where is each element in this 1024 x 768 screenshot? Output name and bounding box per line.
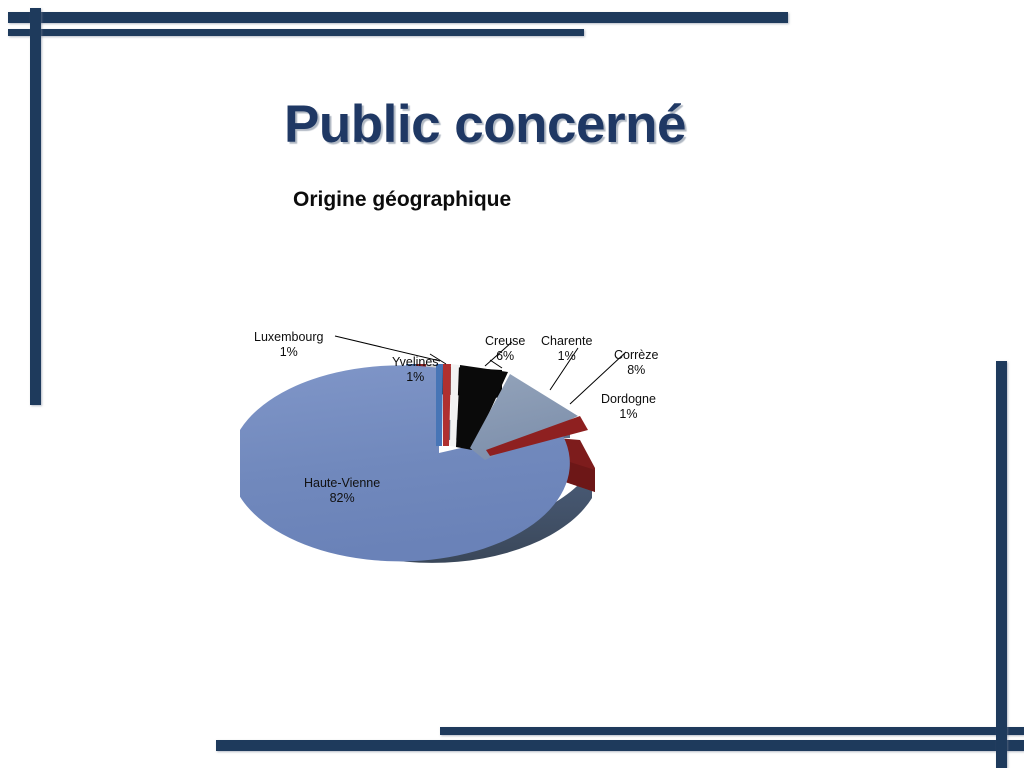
page-title-text: Public concerné <box>284 94 686 155</box>
pie-label-creuse: Creuse 6% <box>485 334 525 364</box>
pie-label-charente: Charente 1% <box>541 334 592 364</box>
slide-canvas: Public concerné Origine géographique <box>0 0 1024 768</box>
page-subtitle: Origine géographique <box>293 188 511 212</box>
decor-bar-top-long <box>8 12 788 23</box>
faint-watermark-text <box>830 0 870 18</box>
decor-bar-right-vertical <box>996 361 1007 768</box>
pie-chart: Luxembourg 1% Yvelines 1% Creuse 6% Char… <box>240 320 720 590</box>
pie-label-luxembourg: Luxembourg 1% <box>254 330 324 360</box>
decor-bar-left-vertical <box>30 8 41 405</box>
decor-bar-top-thin <box>8 29 584 36</box>
pie-label-dordogne: Dordogne 1% <box>601 392 656 422</box>
decor-bar-bottom-thin <box>440 727 1024 735</box>
decor-bar-bottom-long <box>216 740 1024 751</box>
pie-label-yvelines: Yvelines 1% <box>392 355 439 385</box>
pie-label-correze: Corrèze 8% <box>614 348 658 378</box>
pie-label-haute-vienne: Haute-Vienne 82% <box>304 476 380 506</box>
page-title: Public concerné <box>0 94 1024 155</box>
